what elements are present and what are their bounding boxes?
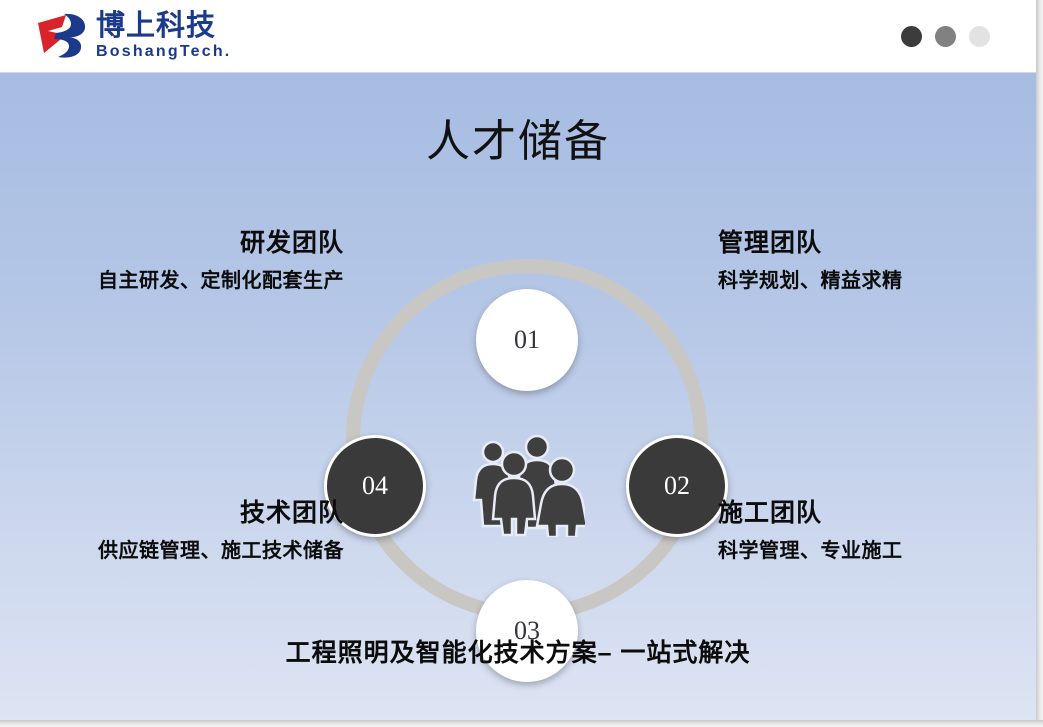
dot-light-icon — [969, 26, 990, 47]
slide-body: 人才储备 01 02 — [0, 73, 1036, 720]
cycle-node-01[interactable]: 01 — [476, 289, 578, 391]
page-title: 人才储备 — [0, 105, 1036, 169]
cycle-node-02-number: 02 — [664, 471, 690, 501]
group-of-people-icon — [469, 431, 585, 537]
label-construction-team-title: 施工团队 — [718, 498, 1036, 529]
logo-wordmark: 博上科技 BoshangTech. — [96, 12, 231, 60]
header-dot-group — [901, 26, 990, 47]
label-technical-team-subtitle: 供应链管理、施工技术储备 — [14, 539, 344, 564]
label-rd-team: 研发团队 自主研发、定制化配套生产 — [14, 228, 344, 294]
label-rd-team-subtitle: 自主研发、定制化配套生产 — [14, 269, 344, 294]
dot-mid-icon — [935, 26, 956, 47]
logo-chinese-name: 博上科技 — [96, 12, 231, 41]
page-edge-bottom — [0, 720, 1043, 727]
label-management-team-subtitle: 科学规划、精益求精 — [718, 269, 1036, 294]
label-technical-team-title: 技术团队 — [14, 498, 344, 529]
slide-header: 博上科技 BoshangTech. — [0, 0, 1036, 73]
label-construction-team: 施工团队 科学管理、专业施工 — [718, 498, 1036, 564]
logo-english-name: BoshangTech. — [96, 44, 231, 60]
label-construction-team-subtitle: 科学管理、专业施工 — [718, 539, 1036, 564]
slide-canvas: 博上科技 BoshangTech. 人才储备 — [0, 0, 1043, 727]
page-edge-right — [1036, 0, 1043, 727]
cycle-node-02[interactable]: 02 — [626, 435, 728, 537]
label-management-team-title: 管理团队 — [718, 228, 1036, 259]
label-technical-team: 技术团队 供应链管理、施工技术储备 — [14, 498, 344, 564]
boshang-logo-mark-icon — [36, 11, 90, 61]
label-rd-team-title: 研发团队 — [14, 228, 344, 259]
label-management-team: 管理团队 科学规划、精益求精 — [718, 228, 1036, 294]
cycle-node-01-number: 01 — [514, 325, 540, 355]
slide-caption: 工程照明及智能化技术方案– 一站式解决 — [0, 633, 1036, 669]
dot-dark-icon — [901, 26, 922, 47]
cycle-node-04-number: 04 — [362, 471, 388, 501]
company-logo: 博上科技 BoshangTech. — [36, 11, 231, 61]
